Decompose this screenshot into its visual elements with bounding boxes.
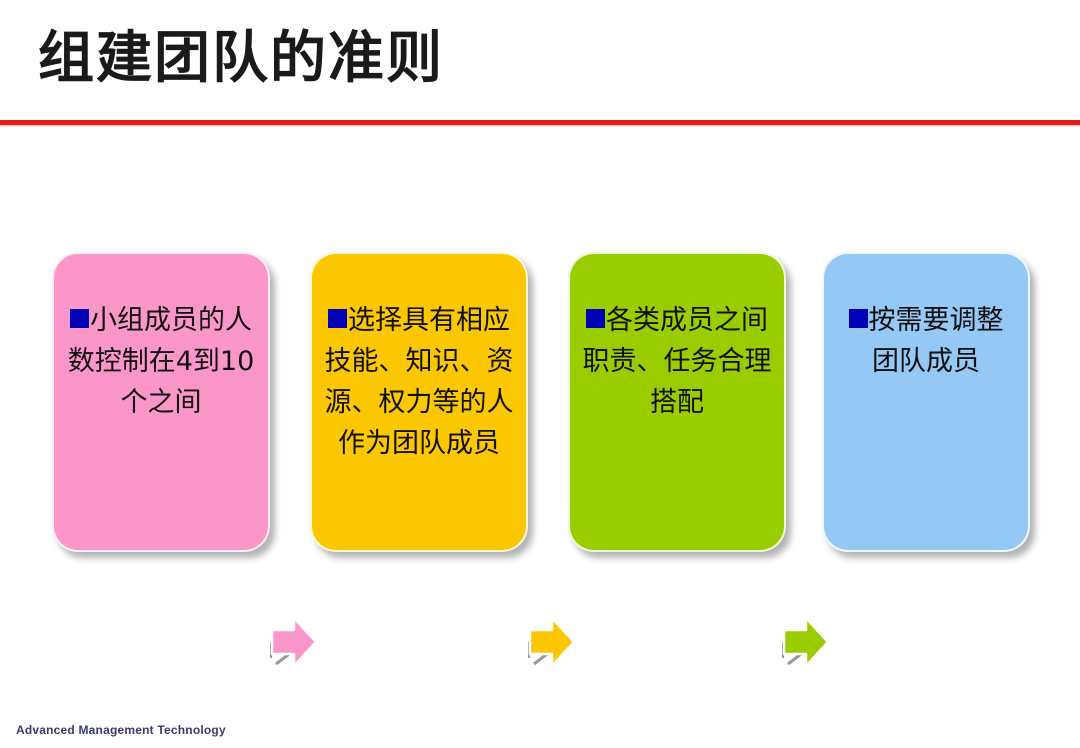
square-bullet-icon (70, 309, 89, 328)
arrow-1-2 (266, 612, 320, 674)
flow-node-4[interactable]: 按需要调整团队成员 (822, 252, 1030, 552)
square-bullet-icon (849, 309, 868, 328)
square-bullet-icon (328, 309, 347, 328)
flow-node-1-text: 小组成员的人数控制在4到10个之间 (66, 300, 256, 423)
arrow-2-3 (524, 612, 578, 674)
flow-node-3[interactable]: 各类成员之间职责、任务合理搭配 (568, 252, 786, 552)
title-divider-rule (0, 120, 1080, 125)
square-bullet-icon (586, 309, 605, 328)
page-title: 组建团队的准则 (38, 24, 444, 94)
slide-canvas: 组建团队的准则 小组成员的人数控制在4到10个之间 选择具有相应技能、知识、资源… (0, 0, 1080, 748)
flow-node-4-text: 按需要调整团队成员 (836, 300, 1016, 382)
slide-footer: Advanced Management Technology (16, 723, 226, 737)
arrow-3-4 (778, 612, 832, 674)
flow-node-2-text: 选择具有相应技能、知识、资源、权力等的人作为团队成员 (324, 300, 514, 464)
process-flow-diagram: 小组成员的人数控制在4到10个之间 选择具有相应技能、知识、资源、权力等的人作为… (0, 252, 1080, 562)
flow-node-3-text: 各类成员之间职责、任务合理搭配 (582, 300, 772, 423)
flow-node-1[interactable]: 小组成员的人数控制在4到10个之间 (52, 252, 270, 552)
flow-node-2[interactable]: 选择具有相应技能、知识、资源、权力等的人作为团队成员 (310, 252, 528, 552)
